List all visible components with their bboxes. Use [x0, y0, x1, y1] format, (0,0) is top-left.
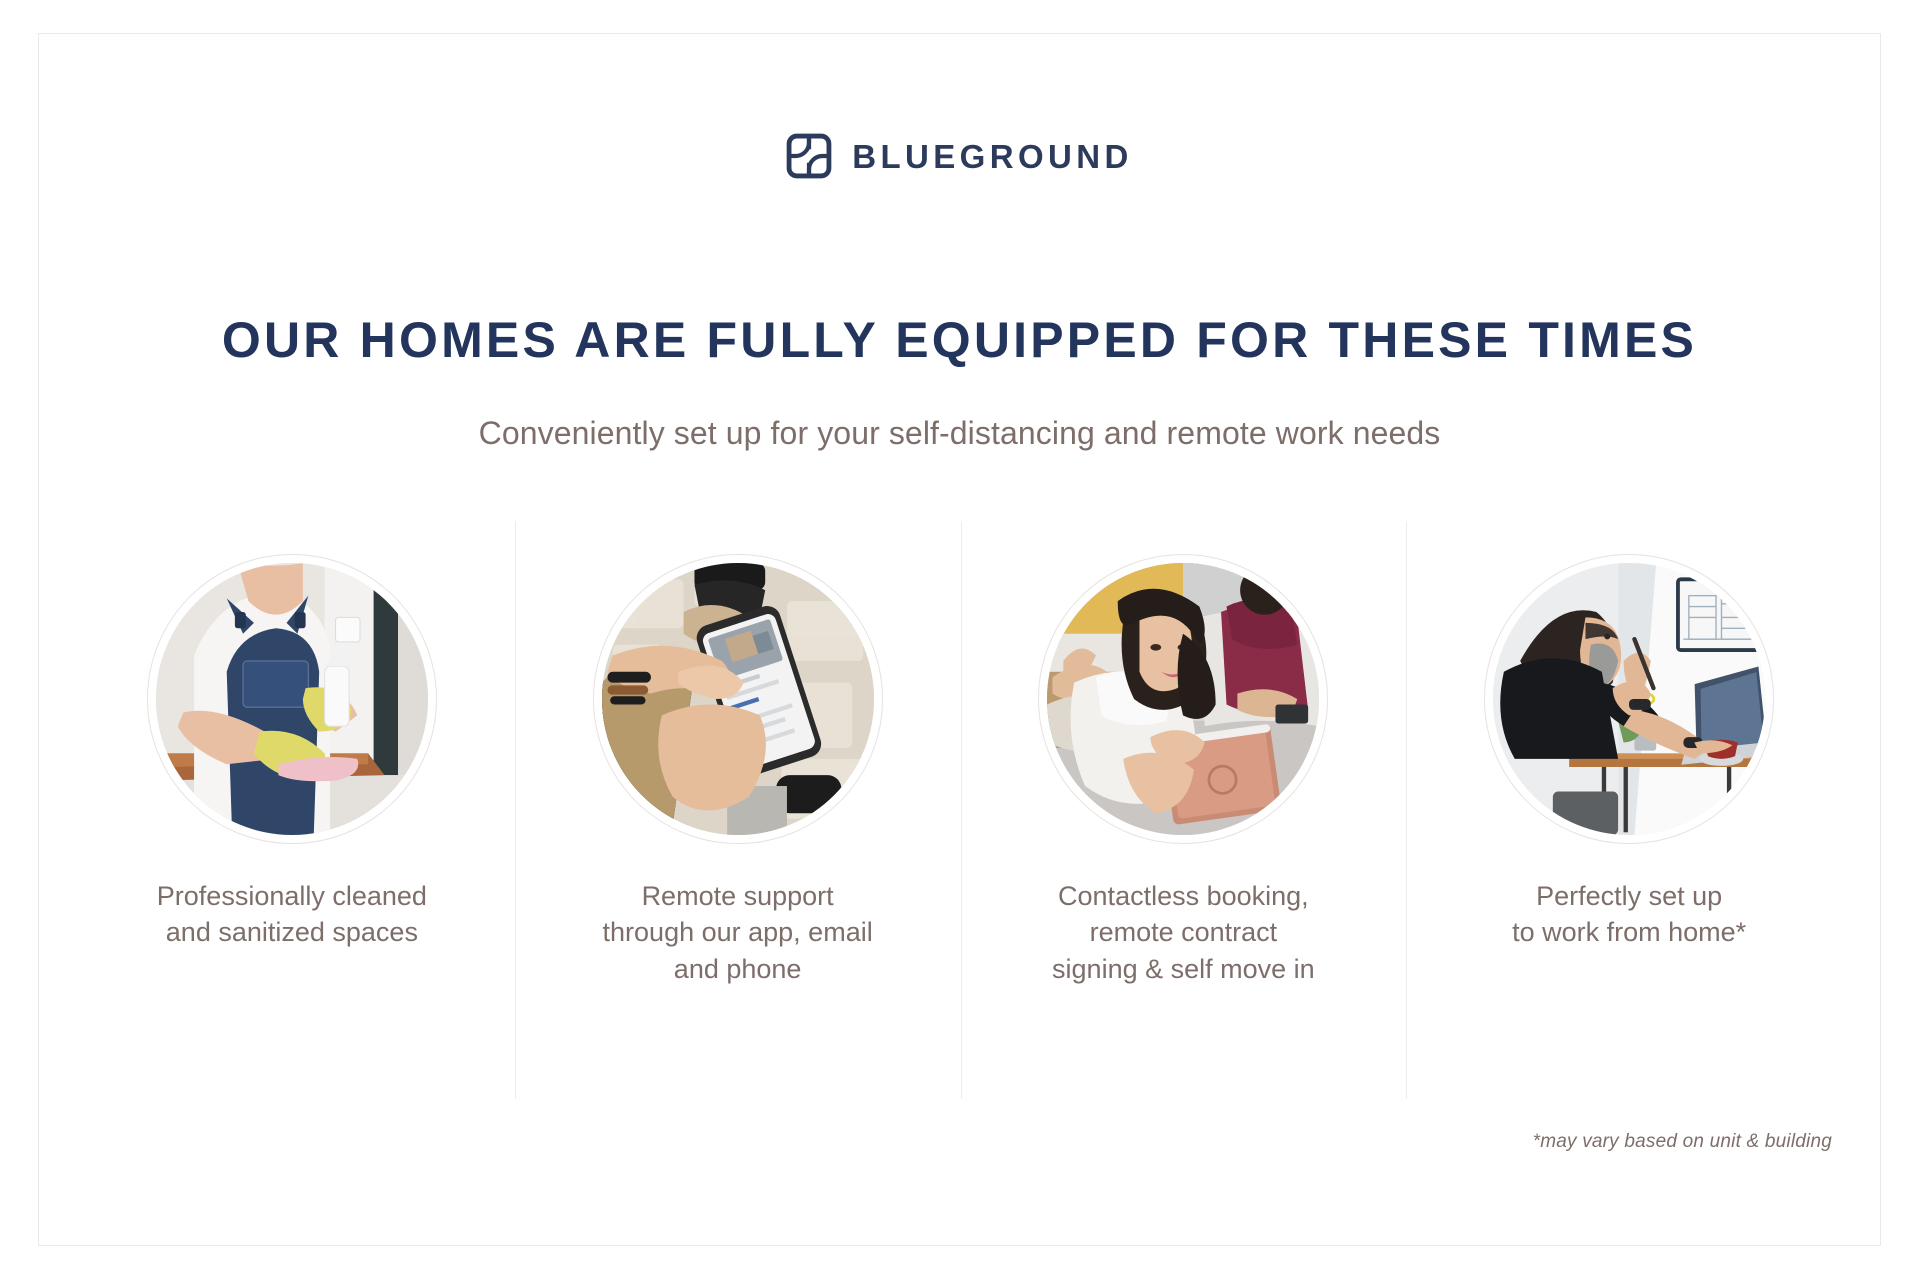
feature-image-ring: [147, 554, 437, 844]
feature-column-remote-support: Remote support through our app, email an…: [515, 521, 961, 1099]
work-from-home-desk-photo: [1493, 563, 1765, 835]
caption-line: signing & self move in: [1052, 951, 1315, 987]
feature-column-contactless-booking: Contactless booking, remote contract sig…: [961, 521, 1407, 1099]
caption-line: through our app, email: [603, 914, 873, 950]
feature-caption: Contactless booking, remote contract sig…: [1052, 878, 1315, 987]
feature-image-ring: [593, 554, 883, 844]
caption-line: Contactless booking,: [1052, 878, 1315, 914]
feature-column-work-from-home: Perfectly set up to work from home*: [1406, 521, 1852, 1099]
feature-caption: Remote support through our app, email an…: [603, 878, 873, 987]
feature-column-cleaning: Professionally cleaned and sanitized spa…: [69, 521, 515, 1099]
caption-line: to work from home*: [1512, 914, 1746, 950]
feature-image-ring: [1038, 554, 1328, 844]
caption-line: and sanitized spaces: [157, 914, 427, 950]
caption-line: Remote support: [603, 878, 873, 914]
caption-line: Perfectly set up: [1512, 878, 1746, 914]
feature-caption: Professionally cleaned and sanitized spa…: [157, 878, 427, 951]
feature-image-ring: [1484, 554, 1774, 844]
feature-caption: Perfectly set up to work from home*: [1512, 878, 1746, 951]
page-subtitle: Conveniently set up for your self-distan…: [39, 414, 1880, 452]
tablet-booking-photo: [1047, 563, 1319, 835]
feature-columns: Professionally cleaned and sanitized spa…: [69, 521, 1852, 1099]
page-title: OUR HOMES ARE FULLY EQUIPPED FOR THESE T…: [39, 313, 1880, 368]
caption-line: remote contract: [1052, 914, 1315, 950]
brand-lockup: BLUEGROUND: [39, 133, 1880, 179]
phone-app-support-photo: [602, 563, 874, 835]
footnote-disclaimer: *may vary based on unit & building: [1533, 1131, 1832, 1153]
caption-line: and phone: [603, 951, 873, 987]
caption-line: Professionally cleaned: [157, 878, 427, 914]
poster-canvas: BLUEGROUND OUR HOMES ARE FULLY EQUIPPED …: [38, 33, 1881, 1246]
blueground-square-mark-icon: [786, 133, 832, 179]
brand-wordmark: BLUEGROUND: [852, 140, 1133, 173]
cleaning-person-photo: [156, 563, 428, 835]
